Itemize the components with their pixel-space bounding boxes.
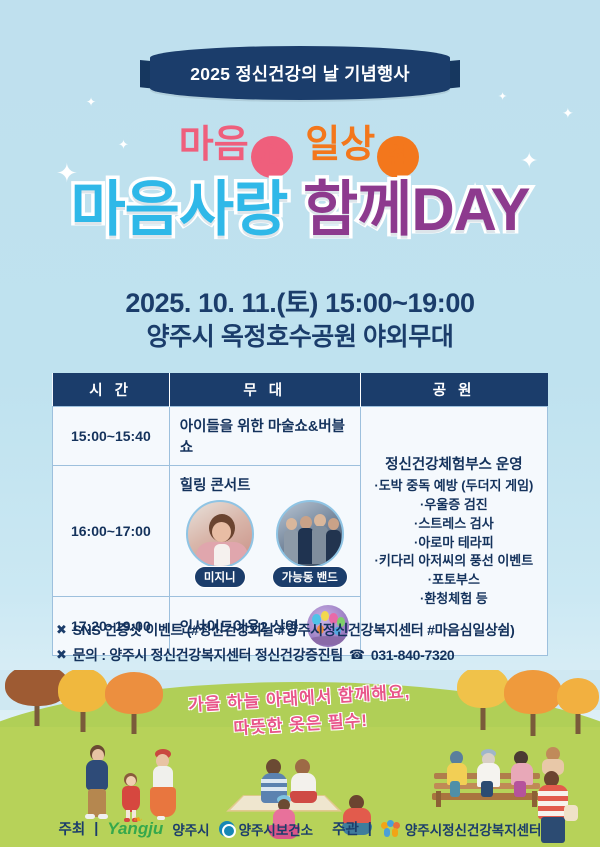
notes-section: ✖ SNS 인증샷 이벤트 (#정신건강의날 #양주시정신건강복지센터 #마음심…	[56, 620, 556, 670]
park-booth-title: 정신건강체험부스 운영	[365, 453, 543, 474]
asterisk-icon: ✖	[56, 647, 67, 663]
cell-park-programs: 정신건강체험부스 운영 ·도박 중독 예방 (두더지 게임) ·우울증 검진 ·…	[360, 407, 547, 656]
footer-divider: |	[368, 821, 372, 837]
organizer-org-mental-health-center: 양주시정신건강복지센터	[381, 819, 542, 839]
performer-photo-icon	[186, 500, 254, 568]
event-datetime: 2025. 10. 11.(토) 15:00~19:00	[0, 281, 600, 320]
list-item: ·아로마 테라피	[365, 534, 543, 553]
host-org-yangju-city: 양주시	[172, 819, 209, 839]
heart-chip-icon: 心	[251, 136, 293, 178]
cell-time: 15:00~15:40	[53, 407, 170, 466]
table-row: 15:00~15:40 아이들을 위한 마술쇼&버블쇼 정신건강체험부스 운영 …	[53, 407, 548, 466]
host-org-label: 양주시보건소	[239, 819, 314, 839]
performer-item: 가능동 밴드	[270, 500, 350, 588]
list-item: ·포토부스	[365, 571, 543, 590]
note-text: 문의 : 양주시 정신건강복지센터 정신건강증진팀	[73, 645, 343, 665]
stage-program-label: 아이들을 위한 마술쇼&버블쇼	[180, 419, 345, 456]
figure-bench-person-1	[444, 751, 470, 799]
performer-item: 미지니	[180, 500, 260, 588]
host-label: 주최	[59, 818, 86, 839]
contact-phone-number: 031-840-7320	[371, 647, 455, 663]
stage-program-label: 힐링 콘서트	[180, 478, 251, 494]
performer-list: 미지니	[180, 500, 350, 588]
yangju-logo: Yangju ❧	[107, 819, 163, 839]
park-program-list: ·도박 중독 예방 (두더지 게임) ·우울증 검진 ·스트레스 검사 ·아로마…	[365, 477, 543, 609]
event-poster: ✦ ✦ ✦ ✦ ✦ ✦ 2025 정신건강의 날 기념행사 마음心 일상쉼 마음…	[0, 0, 600, 847]
ribbon-text: 2025 정신건강의 날 기념행사	[190, 61, 410, 86]
asterisk-icon: ✖	[56, 622, 67, 638]
organizer-label: 주관	[332, 818, 359, 839]
figure-father	[82, 745, 112, 819]
subtitle-word-maeum: 마음	[179, 124, 249, 166]
note-text: SNS 인증샷 이벤트 (#정신건강의날 #양주시정신건강복지센터 #마음심일상…	[73, 620, 515, 640]
leaf-icon: ❧	[133, 813, 142, 826]
event-venue: 양주시 옥정호수공원 야외무대	[0, 317, 600, 353]
cell-time: 16:00~17:00	[53, 466, 170, 597]
mental-health-center-logo-icon	[381, 821, 401, 837]
list-item: ·환청체험 등	[365, 590, 543, 609]
subtitle-word-ilsang: 일상	[305, 124, 375, 166]
cell-stage: 아이들을 위한 마술쇼&버블쇼	[169, 407, 360, 466]
cell-stage: 힐링 콘서트 미지니	[169, 466, 360, 597]
figure-bench-person-2	[474, 749, 504, 799]
host-org-health-center: 양주시보건소	[219, 819, 314, 839]
figure-bench-person-3	[508, 751, 536, 799]
ribbon-main: 2025 정신건강의 날 기념행사	[150, 46, 450, 100]
footer-divider: |	[94, 821, 98, 837]
title-part-maeumsarang: 마음사랑	[70, 176, 287, 243]
phone-icon: ☎	[349, 647, 365, 663]
title-part-hamkkeday: 함께DAY	[303, 176, 530, 243]
column-header-park: 공 원	[360, 373, 547, 407]
footer-organizations: 주최 | Yangju ❧ 양주시 양주시보건소 주관 | 양주시정신건강복지센…	[0, 818, 600, 839]
health-center-logo-icon	[219, 821, 235, 837]
ribbon-banner: 2025 정신건강의 날 기념행사	[0, 46, 600, 106]
performer-name: 미지니	[194, 566, 246, 588]
list-item: ·우울증 검진	[365, 496, 543, 515]
organizer-org-label: 양주시정신건강복지센터	[405, 819, 542, 839]
list-item: ·도박 중독 예방 (두더지 게임)	[365, 477, 543, 496]
note-sns-event: ✖ SNS 인증샷 이벤트 (#정신건강의날 #양주시정신건강복지센터 #마음심…	[56, 620, 556, 640]
page-title: 마음사랑 함께DAY	[0, 178, 600, 243]
performer-name: 가능동 밴드	[272, 566, 348, 588]
figure-mother	[148, 749, 180, 821]
list-item: ·키다리 아저씨의 풍선 이벤트	[365, 552, 543, 571]
schedule-table: 시 간 무 대 공 원 15:00~15:40 아이들을 위한 마술쇼&버블쇼 …	[52, 373, 548, 656]
column-header-stage: 무 대	[169, 373, 360, 407]
performer-photo-icon	[276, 500, 344, 568]
list-item: ·스트레스 검사	[365, 515, 543, 534]
table-header-row: 시 간 무 대 공 원	[53, 373, 548, 407]
subtitle-line: 마음心 일상쉼	[0, 126, 600, 178]
sparkle-icon: ✦	[562, 106, 574, 120]
note-inquiry: ✖ 문의 : 양주시 정신건강복지센터 정신건강증진팀 ☎ 031-840-73…	[56, 645, 556, 665]
host-org-label: 양주시	[172, 819, 209, 839]
rest-chip-icon: 쉼	[377, 136, 419, 178]
column-header-time: 시 간	[53, 373, 170, 407]
